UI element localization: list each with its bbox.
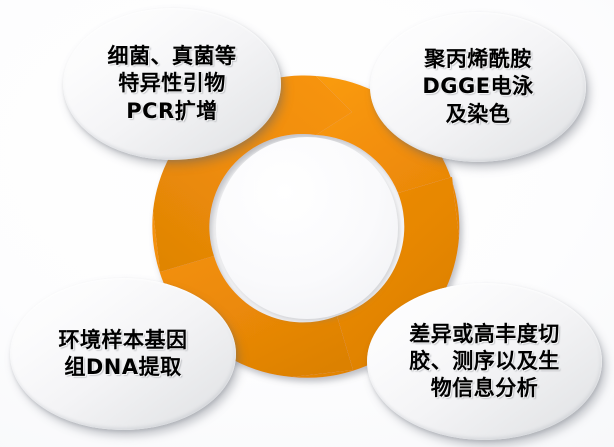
step-label-top-left: 细菌、真菌等 特异性引物 PCR扩增: [108, 43, 237, 125]
diagram-canvas: 细菌、真菌等 特异性引物 PCR扩增 聚丙烯酰胺 DGGE电泳 及染色 环境样本…: [0, 0, 614, 447]
step-label-bottom-left: 环境样本基因 组DNA提取: [59, 327, 188, 382]
step-callout-bottom-right[interactable]: 差异或高丰度切 胶、测序以及生 物信息分析: [367, 283, 602, 440]
step-callout-bottom-left[interactable]: 环境样本基因 组DNA提取: [10, 278, 236, 430]
cycle-center-circle: [216, 137, 398, 319]
step-label-bottom-right: 差异或高丰度切 胶、测序以及生 物信息分析: [409, 321, 560, 403]
step-callout-top-left[interactable]: 细菌、真菌等 特异性引物 PCR扩增: [63, 8, 281, 160]
step-callout-top-right[interactable]: 聚丙烯酰胺 DGGE电泳 及染色: [370, 12, 586, 162]
step-label-top-right: 聚丙烯酰胺 DGGE电泳 及染色: [422, 46, 533, 128]
